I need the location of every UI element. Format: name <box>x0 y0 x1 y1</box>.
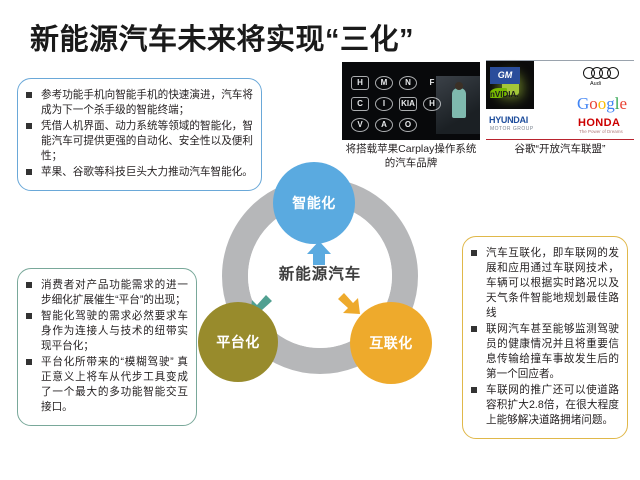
gm-logo-icon: GM <box>490 67 520 84</box>
carplay-caption: 将搭载苹果Carplay操作系统的汽车品牌 <box>342 142 480 170</box>
infiniti-logo-icon: I <box>375 97 393 111</box>
opel-logo-icon: O <box>399 118 417 132</box>
carplay-keynote-image: H M N F C I KIA H V A O <box>342 62 480 140</box>
honda-logo-icon: HONDA <box>578 118 620 129</box>
list-item: 智能化驾驶的需求必然要求车身作为连接人与技术的纽带实现平台化； <box>24 309 188 354</box>
node-platform[interactable]: 平台化 <box>198 302 278 382</box>
oaa-logos-image: GM nVIDIA. HYUNDAI MOTOR GROUP Audi Goog… <box>486 60 634 140</box>
volvo-logo-icon: V <box>351 118 369 132</box>
list-item: 汽车互联化，即车联网的发展和应用通过车联网技术，车辆可以根据实时路况以及天气条件… <box>469 246 619 321</box>
oaa-caption: 谷歌“开放汽车联盟” <box>486 142 634 156</box>
honda-sublabel: The Power of Dreams <box>579 130 623 135</box>
kia-logo-icon: KIA <box>399 97 417 111</box>
list-item: 凭借人机界面、动力系统等领域的智能化，智能汽车可提供更强的自动化、安全性以及便利… <box>24 119 253 164</box>
page-title: 新能源汽车未来将实现“三化” <box>30 16 414 58</box>
photo-oaa-block: GM nVIDIA. HYUNDAI MOTOR GROUP Audi Goog… <box>486 60 634 156</box>
audi-logo-icon <box>583 67 619 79</box>
photo-carplay-block: H M N F C I KIA H V A O 将搭载苹果Carplay操作系统… <box>342 62 480 170</box>
nissan-logo-icon: N <box>399 76 417 90</box>
arrow-down-right-icon <box>336 290 364 318</box>
callout-platform-list: 消费者对产品功能需求的进一步细化扩展催生“平台”的出现； 智能化驾驶的需求必然要… <box>24 278 188 415</box>
hyundai-logo-icon: HYUNDAI <box>489 116 528 125</box>
google-logo-icon: Google <box>577 95 627 112</box>
arrow-up-icon <box>304 240 334 266</box>
list-item: 平台化所带来的“模糊驾驶” 真正意义上将车从代步工具变成了一个最大的多功能智能交… <box>24 355 188 415</box>
audi-rings-icon <box>583 67 619 79</box>
honda-logo-icon: H <box>351 76 369 90</box>
callout-connected: 汽车互联化，即车联网的发展和应用通过车联网技术，车辆可以根据实时路况以及天气条件… <box>462 236 628 439</box>
cycle-diagram: 新能源汽车 智能化 平台化 互联化 <box>200 168 440 403</box>
acura-logo-icon: A <box>375 118 393 132</box>
chevrolet-logo-icon: C <box>351 97 369 111</box>
slide-canvas: 新能源汽车未来将实现“三化” 参考功能手机向智能手机的快速演进，汽车将成为下一个… <box>0 0 640 480</box>
callout-platform: 消费者对产品功能需求的进一步细化扩展催生“平台”的出现； 智能化驾驶的需求必然要… <box>17 268 197 426</box>
hyundai-logo-icon: H <box>423 97 441 111</box>
nvidia-logo-icon: nVIDIA. <box>490 91 518 99</box>
hyundai-sublabel: MOTOR GROUP <box>490 127 534 132</box>
mercedes-logo-icon: M <box>375 76 393 90</box>
ferrari-logo-icon: F <box>423 76 441 90</box>
node-intelligent[interactable]: 智能化 <box>273 162 355 244</box>
carplay-presenter-head <box>455 82 463 90</box>
list-item: 车联网的推广还可以使道路容积扩大2.8倍，在很大程度上能够解决道路拥堵问题。 <box>469 383 619 428</box>
list-item: 参考功能手机向智能手机的快速演进，汽车将成为下一个杀手级的智能终端； <box>24 88 253 118</box>
callout-connected-list: 汽车互联化，即车联网的发展和应用通过车联网技术，车辆可以根据实时路况以及天气条件… <box>469 246 619 428</box>
audi-label: Audi <box>590 82 601 88</box>
node-connected[interactable]: 互联化 <box>350 302 432 384</box>
carplay-brand-logo-grid: H M N F C I KIA H V A O <box>351 76 445 137</box>
list-item: 联网汽车甚至能够监测驾驶员的健康情况并且将重要信息传输给撞车事故发生后的第一个回… <box>469 322 619 382</box>
callout-intelligent-list: 参考功能手机向智能手机的快速演进，汽车将成为下一个杀手级的智能终端； 凭借人机界… <box>24 88 253 180</box>
carplay-presenter <box>452 88 466 118</box>
list-item: 消费者对产品功能需求的进一步细化扩展催生“平台”的出现； <box>24 278 188 308</box>
